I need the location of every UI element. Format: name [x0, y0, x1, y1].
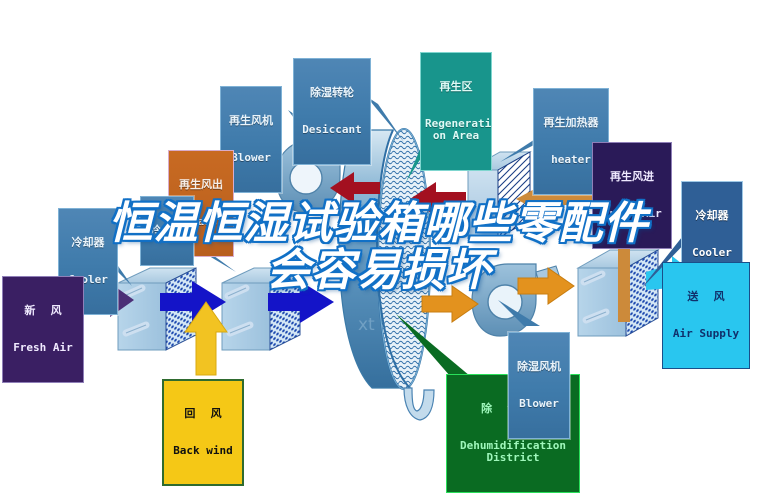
label-cooler-left-inner[interactable]: 冷却器	[140, 196, 194, 266]
label-cooler-left-outer-cn: 冷却器	[63, 237, 113, 249]
label-regen-fresh-air-in-cn: 再生风进	[597, 171, 667, 183]
label-back-wind-en: Back wind	[168, 445, 238, 457]
label-regen-fresh-air-in-en: Fresh Air	[597, 208, 667, 220]
label-back-wind-cn: 回 风	[168, 408, 238, 420]
label-dehumidification-district-en: Dehumidification District	[451, 440, 575, 465]
label-dehumidification-blower-cn: 除湿风机	[513, 361, 565, 373]
label-cooler-right-cn: 冷却器	[686, 210, 738, 222]
label-regeneration-blower-cn: 再生风机	[225, 115, 277, 127]
label-regen-fresh-air-in[interactable]: 再生风进 Fresh Air	[592, 142, 672, 249]
rotor-watermark: xt	[358, 315, 375, 335]
dehumidification-blower	[472, 264, 560, 336]
label-fresh-air-in[interactable]: 新 风 Fresh Air	[2, 276, 84, 383]
label-desiccant-rotor-en: Desiccant	[298, 124, 366, 136]
arrow-rotor-to-blower	[422, 286, 478, 322]
label-desiccant-rotor[interactable]: 除湿转轮 Desiccant	[293, 58, 371, 165]
label-regeneration-area-en: Regenerati on Area	[425, 118, 487, 143]
label-desiccant-rotor-cn: 除湿转轮	[298, 87, 366, 99]
label-exhaust-cn: 再生风出	[173, 179, 229, 191]
desiccant-rotor: xt	[339, 129, 430, 389]
label-cooler-right-en: Cooler	[686, 247, 738, 259]
label-regeneration-area[interactable]: 再生区 Regenerati on Area	[420, 52, 492, 171]
label-air-supply-en: Air Supply	[667, 328, 745, 340]
diagram-canvas: xt	[0, 0, 757, 488]
label-dehumidification-blower[interactable]: 除湿风机 Blower	[508, 332, 570, 439]
label-regeneration-area-cn: 再生区	[425, 81, 487, 93]
label-cooler-left-inner-cn: 冷却器	[145, 225, 189, 237]
label-air-supply-cn: 送 风	[667, 291, 745, 303]
label-fresh-air-in-cn: 新 风	[7, 305, 79, 317]
label-dehumidification-blower-en: Blower	[513, 398, 565, 410]
rotor-duct-foot	[404, 388, 434, 420]
label-fresh-air-in-en: Fresh Air	[7, 342, 79, 354]
label-regeneration-heater-cn: 再生加热器	[538, 117, 604, 129]
label-air-supply[interactable]: 送 风 Air Supply	[662, 262, 750, 369]
label-back-wind[interactable]: 回 风 Back wind	[162, 379, 244, 486]
